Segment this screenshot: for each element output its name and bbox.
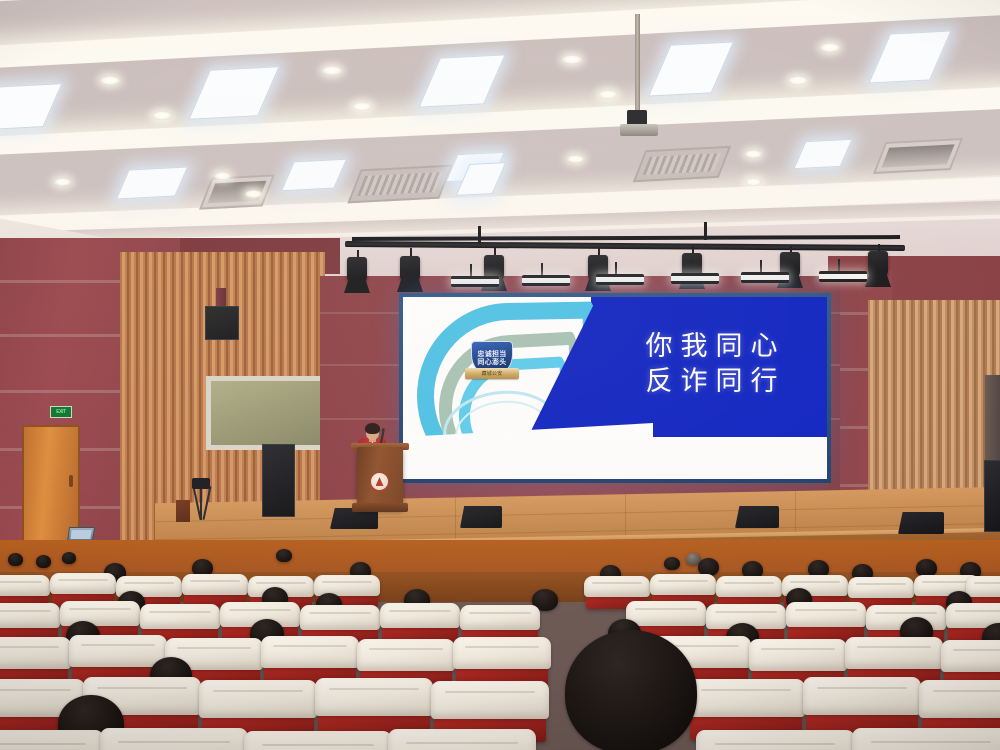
stage-chair	[176, 500, 190, 522]
camera-on-tripod	[192, 478, 210, 489]
presenter-hair	[365, 423, 380, 434]
stage-bar-light	[522, 275, 570, 286]
ceiling-downlight	[152, 111, 172, 120]
ceiling-downlight	[322, 66, 342, 75]
audience-head	[276, 549, 292, 562]
stage-spotlight	[347, 257, 367, 283]
ceiling-downlight	[745, 150, 762, 158]
ceiling-downlight	[214, 172, 231, 180]
led-screen: 忠诚担当 同心澎头 藏城公安 你我同心 反诈同行	[399, 293, 831, 483]
truss-hanger	[704, 222, 707, 240]
audience-head-foreground	[565, 630, 697, 750]
ceiling-downlight	[562, 55, 582, 64]
stage-spotlight	[400, 256, 420, 282]
emblem-shield-line1: 忠诚担当	[477, 351, 506, 358]
audience-head	[8, 553, 23, 566]
audience-seat	[248, 742, 388, 750]
stage-monitor-speaker	[735, 506, 779, 528]
led-screen-surface: 忠诚担当 同心澎头 藏城公安 你我同心 反诈同行	[403, 297, 827, 479]
podium-base	[352, 503, 408, 512]
ceiling-ac-vent	[633, 146, 731, 182]
ceiling-downlight	[567, 155, 584, 163]
truss-hanger	[478, 226, 481, 244]
ceiling-downlight	[788, 76, 808, 85]
ceiling-downlight	[352, 102, 372, 111]
audience-seat	[392, 740, 532, 750]
projector-pole	[635, 14, 640, 122]
audience-seat	[104, 739, 244, 750]
emblem-shield-line2: 同心澎头	[477, 359, 506, 366]
stage-monitor-speaker	[460, 506, 502, 528]
audience-head	[664, 557, 680, 570]
screen-bottom-band	[403, 437, 827, 479]
audience-head	[36, 555, 51, 568]
audience-seat	[382, 609, 458, 643]
audience-seating	[0, 545, 1000, 750]
ceiling-downlight	[598, 90, 618, 99]
audience-seat	[0, 741, 100, 750]
stage-bar-light	[671, 273, 719, 284]
emblem-ribbon: 藏城公安	[465, 368, 519, 379]
exit-sign-label: EXIT	[56, 410, 66, 415]
stage-spotlight	[868, 251, 888, 277]
exit-sign: EXIT	[50, 406, 72, 418]
audience-seat	[856, 739, 1000, 750]
ceiling-ac-vent	[873, 138, 963, 174]
ceiling-ac-vent	[347, 165, 452, 204]
audience-head	[62, 552, 76, 564]
screen-slogan: 你我同心 反诈同行	[613, 329, 818, 399]
stage-bar-light	[819, 271, 867, 282]
wall-alcove-window	[206, 376, 326, 450]
ceiling-downlight	[100, 76, 120, 85]
slogan-line-1: 你我同心	[613, 329, 818, 364]
ceiling-downlight	[745, 178, 762, 186]
tower-speaker-left	[262, 444, 295, 517]
stage-bar-light	[451, 276, 499, 287]
police-emblem: 忠诚担当 同心澎头 藏城公安	[465, 341, 519, 387]
ceiling-downlight	[245, 190, 262, 198]
slogan-line-2: 反诈同行	[613, 364, 818, 399]
podium-emblem	[370, 472, 389, 491]
stage-bar-light	[596, 274, 644, 285]
tower-speaker-right	[984, 460, 1000, 532]
speaker-bracket	[216, 288, 226, 308]
hanging-speaker-left	[205, 306, 239, 340]
auditorium-photo: EXIT	[0, 0, 1000, 750]
audience-seat	[700, 741, 850, 750]
ceiling-downlight	[54, 178, 71, 186]
stage-bar-light	[741, 272, 789, 283]
tripod-leg	[200, 486, 202, 520]
stage-monitor-speaker	[898, 512, 944, 534]
ceiling-downlight	[820, 43, 840, 52]
emblem-ribbon-label: 藏城公安	[482, 370, 503, 377]
projector	[620, 124, 658, 136]
